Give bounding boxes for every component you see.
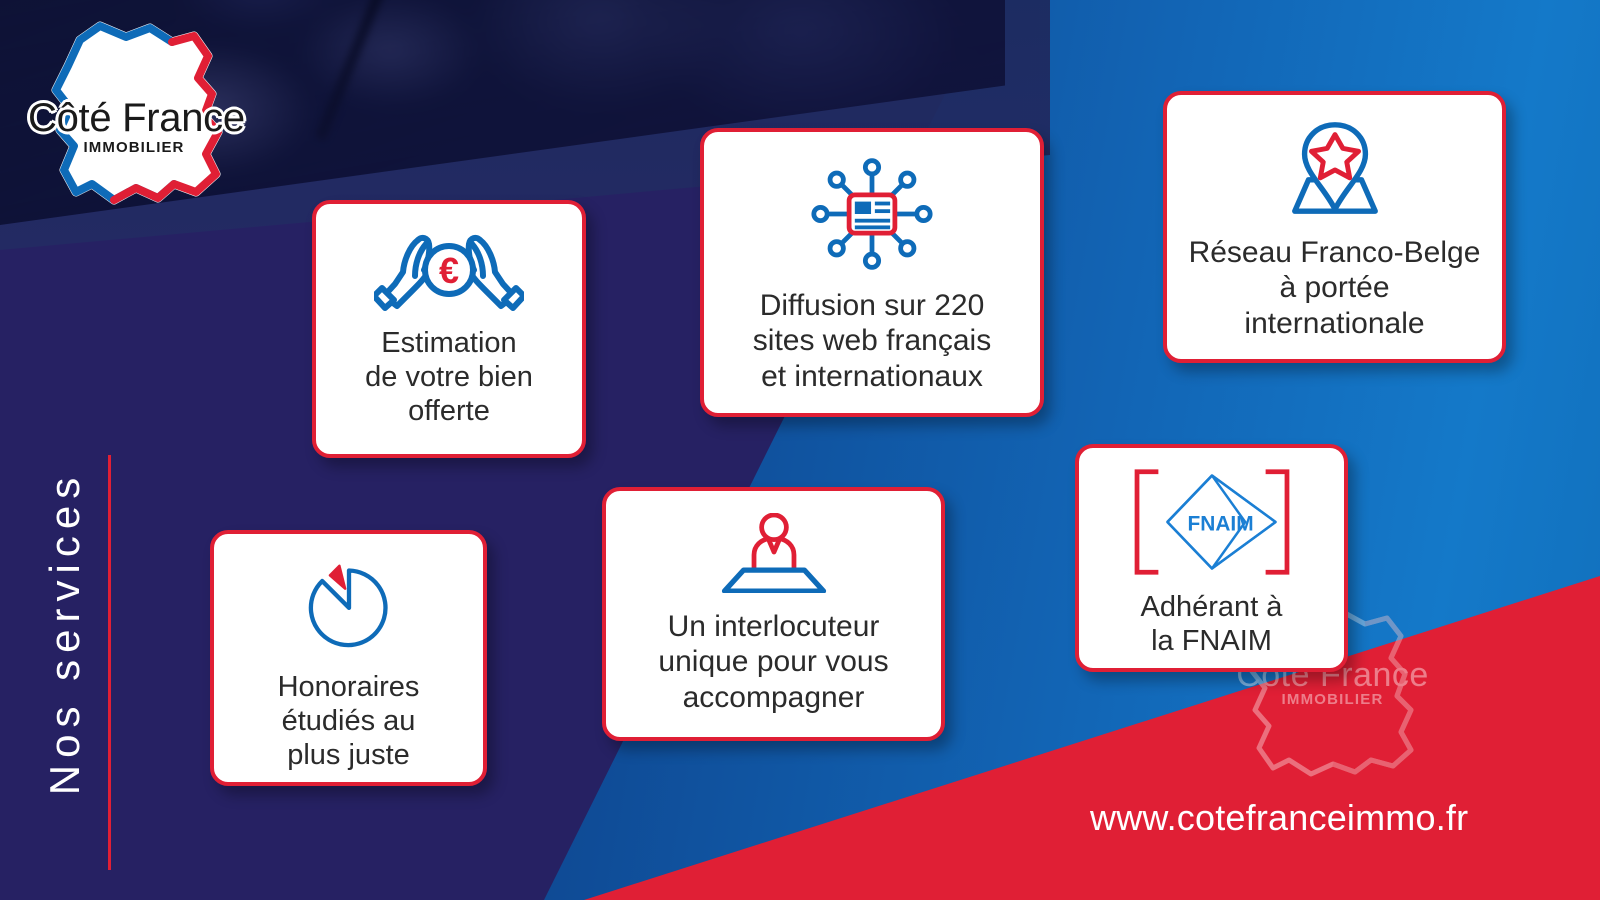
card-label-reseau: Réseau Franco-Belge à portée internation… [1167,235,1502,341]
card-icon-container: FNAIM [1079,466,1344,578]
card-icon-container: € [316,226,582,312]
section-title-vertical: Nos services [30,445,100,820]
person-at-desk-icon [715,513,833,593]
brand-logo[interactable]: Côté France IMMOBILIER [28,12,240,210]
card-icon-container [214,560,483,648]
card-icon-container [704,152,1040,276]
fnaim-wordmark: FNAIM [1187,513,1253,536]
card-label-diffusion: Diffusion sur 220 sites web français et … [704,288,1040,394]
brand-logo-sub: IMMOBILIER [28,140,240,155]
section-title-red-rule [108,455,111,870]
hands-euro-coin-icon: € [374,226,524,312]
service-card-diffusion[interactable]: Diffusion sur 220 sites web français et … [700,128,1044,417]
service-card-reseau[interactable]: Réseau Franco-Belge à portée internation… [1163,91,1506,363]
card-label-fnaim: Adhérant à la FNAIM [1079,590,1344,658]
map-pin-star-icon [1281,115,1389,221]
section-title-text: Nos services [41,470,89,794]
service-card-fnaim[interactable]: FNAIM Adhérant à la FNAIM [1075,444,1348,672]
brand-logo-name: Côté France [28,98,240,138]
svg-text:€: € [439,250,459,291]
website-url[interactable]: www.cotefranceimmo.fr [1090,797,1468,839]
card-label-interlocuteur: Un interlocuteur unique pour vous accomp… [606,609,941,715]
service-card-estimation[interactable]: € Estimation de votre bien offerte [312,200,586,458]
service-card-interlocuteur[interactable]: Un interlocuteur unique pour vous accomp… [602,487,945,741]
network-hub-document-icon [805,152,939,276]
card-icon-container [606,513,941,593]
fnaim-logo-icon: FNAIM [1131,466,1293,578]
slide-canvas: Côté France IMMOBILIER Côté France IMMOB… [0,0,1600,900]
card-label-estimation: Estimation de votre bien offerte [316,326,582,429]
card-label-honoraires: Honoraires étudiés au plus juste [214,670,483,773]
pie-chart-icon [303,560,395,648]
card-icon-container [1167,115,1502,221]
service-card-honoraires[interactable]: Honoraires étudiés au plus juste [210,530,487,786]
